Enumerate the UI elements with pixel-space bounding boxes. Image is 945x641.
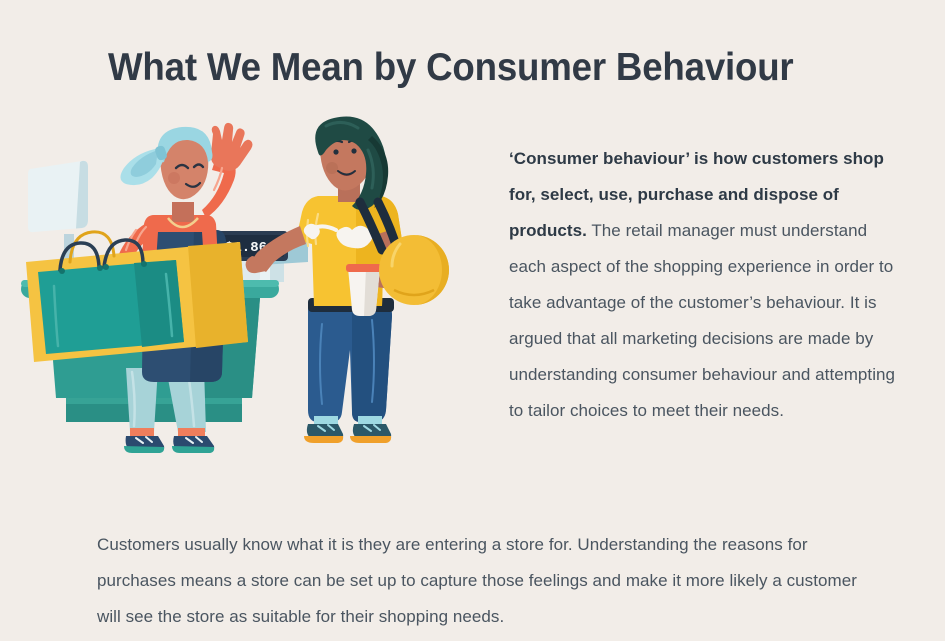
right-column-paragraph: ‘Consumer behaviour’ is how customers sh… <box>509 141 901 429</box>
bottom-paragraph: Customers usually know what it is they a… <box>97 527 857 635</box>
page-title: What We Mean by Consumer Behaviour <box>108 44 822 93</box>
shopper-left-hand <box>246 256 266 273</box>
shopping-bags <box>26 232 248 362</box>
round-bag <box>379 235 449 305</box>
slide-page: What We Mean by Consumer Behaviour <box>0 0 945 641</box>
consumer-behaviour-illustration: $1.86 <box>8 110 478 460</box>
assistant-shoes <box>124 436 214 453</box>
waving-hand <box>211 123 253 171</box>
right-column-rest: The retail manager must understand each … <box>509 221 895 420</box>
shopper-shoes <box>304 424 391 443</box>
assistant-head <box>120 127 212 199</box>
